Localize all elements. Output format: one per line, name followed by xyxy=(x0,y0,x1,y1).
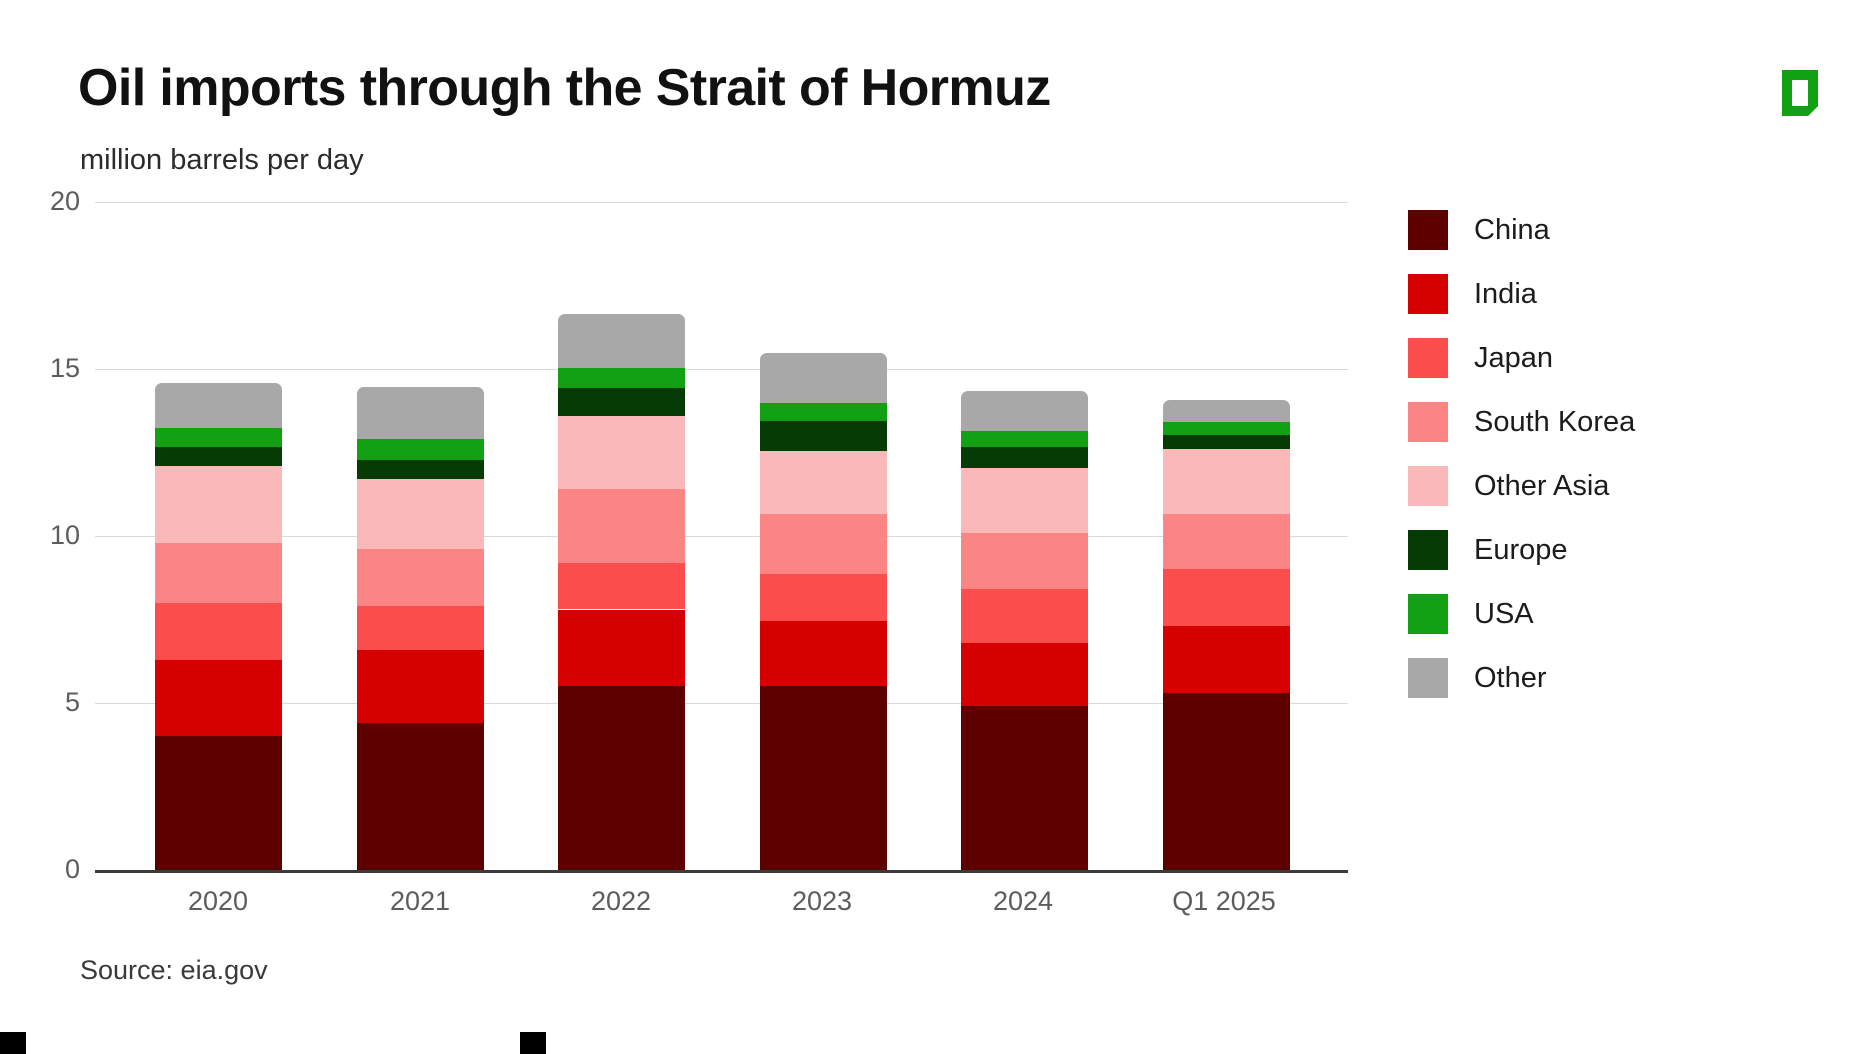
bar-segment-europe[interactable] xyxy=(155,447,282,466)
x-tick-2020: 2020 xyxy=(118,886,318,917)
bar-segment-usa[interactable] xyxy=(558,368,685,388)
gridline-20 xyxy=(95,202,1348,203)
bar-segment-japan[interactable] xyxy=(1163,569,1290,626)
gridline-15 xyxy=(95,369,1348,370)
gridline-5 xyxy=(95,703,1348,704)
legend-item-europe[interactable]: Europe xyxy=(1408,518,1828,582)
legend-item-india[interactable]: India xyxy=(1408,262,1828,326)
bar-2021[interactable] xyxy=(357,387,484,870)
x-tick-2022: 2022 xyxy=(521,886,721,917)
bar-q1-2025[interactable] xyxy=(1163,400,1290,870)
chart-legend: ChinaIndiaJapanSouth KoreaOther AsiaEuro… xyxy=(1408,198,1828,710)
legend-swatch-icon xyxy=(1408,402,1448,442)
footer-mark-right xyxy=(520,1032,546,1054)
bar-segment-japan[interactable] xyxy=(961,589,1088,642)
bar-segment-india[interactable] xyxy=(357,650,484,723)
legend-item-china[interactable]: China xyxy=(1408,198,1828,262)
legend-swatch-icon xyxy=(1408,594,1448,634)
bar-segment-other-asia[interactable] xyxy=(155,466,282,543)
x-tick-2021: 2021 xyxy=(320,886,520,917)
legend-item-japan[interactable]: Japan xyxy=(1408,326,1828,390)
legend-swatch-icon xyxy=(1408,274,1448,314)
legend-label: Europe xyxy=(1474,534,1568,567)
legend-item-usa[interactable]: USA xyxy=(1408,582,1828,646)
bar-segment-other[interactable] xyxy=(558,314,685,367)
bar-segment-south-korea[interactable] xyxy=(558,489,685,562)
source-note: Source: eia.gov xyxy=(80,955,268,986)
bar-segment-south-korea[interactable] xyxy=(357,549,484,606)
bar-segment-china[interactable] xyxy=(760,686,887,870)
bar-2022[interactable] xyxy=(558,314,685,870)
legend-item-south-korea[interactable]: South Korea xyxy=(1408,390,1828,454)
bar-segment-south-korea[interactable] xyxy=(760,514,887,574)
legend-item-other-asia[interactable]: Other Asia xyxy=(1408,454,1828,518)
bar-segment-europe[interactable] xyxy=(760,421,887,451)
bar-segment-south-korea[interactable] xyxy=(1163,514,1290,569)
chart-plot-area: 20 15 10 5 0 2020 2021 2022 2023 2024 Q1… xyxy=(0,0,1400,1054)
bar-segment-japan[interactable] xyxy=(558,563,685,610)
bar-segment-india[interactable] xyxy=(760,621,887,686)
legend-label: India xyxy=(1474,278,1537,311)
footer-mark-left xyxy=(0,1032,26,1054)
bar-segment-india[interactable] xyxy=(961,643,1088,706)
bar-segment-japan[interactable] xyxy=(357,606,484,649)
bar-segment-china[interactable] xyxy=(357,723,484,870)
bar-2024[interactable] xyxy=(961,391,1088,870)
bar-segment-usa[interactable] xyxy=(155,428,282,447)
bar-segment-europe[interactable] xyxy=(558,388,685,416)
y-tick-5: 5 xyxy=(10,687,80,718)
legend-swatch-icon xyxy=(1408,466,1448,506)
legend-label: China xyxy=(1474,214,1550,247)
gridline-10 xyxy=(95,536,1348,537)
legend-label: Other Asia xyxy=(1474,470,1609,503)
x-tick-2023: 2023 xyxy=(722,886,922,917)
y-tick-10: 10 xyxy=(10,520,80,551)
bar-segment-other[interactable] xyxy=(1163,400,1290,422)
bar-2020[interactable] xyxy=(155,383,282,870)
bar-segment-south-korea[interactable] xyxy=(155,543,282,603)
bar-segment-usa[interactable] xyxy=(357,439,484,460)
bar-segment-other[interactable] xyxy=(760,353,887,403)
legend-swatch-icon xyxy=(1408,338,1448,378)
y-tick-0: 0 xyxy=(10,854,80,885)
bar-segment-other-asia[interactable] xyxy=(760,451,887,514)
legend-label: USA xyxy=(1474,598,1534,631)
legend-label: South Korea xyxy=(1474,406,1635,439)
legend-swatch-icon xyxy=(1408,530,1448,570)
bar-segment-india[interactable] xyxy=(558,610,685,687)
bar-segment-south-korea[interactable] xyxy=(961,533,1088,590)
bar-segment-other[interactable] xyxy=(357,387,484,439)
bar-segment-china[interactable] xyxy=(1163,693,1290,870)
bar-segment-other[interactable] xyxy=(155,383,282,428)
bar-segment-japan[interactable] xyxy=(760,574,887,621)
green-square-logo xyxy=(1772,62,1828,118)
y-tick-20: 20 xyxy=(10,186,80,217)
x-tick-2024: 2024 xyxy=(923,886,1123,917)
bar-segment-usa[interactable] xyxy=(1163,422,1290,435)
bar-segment-europe[interactable] xyxy=(1163,435,1290,449)
legend-swatch-icon xyxy=(1408,210,1448,250)
y-tick-15: 15 xyxy=(10,353,80,384)
bar-2023[interactable] xyxy=(760,353,887,870)
footer-bar xyxy=(0,1032,1872,1054)
bar-segment-other[interactable] xyxy=(961,391,1088,431)
legend-label: Japan xyxy=(1474,342,1553,375)
bar-segment-europe[interactable] xyxy=(961,447,1088,468)
legend-label: Other xyxy=(1474,662,1547,695)
bar-segment-other-asia[interactable] xyxy=(1163,449,1290,514)
bar-segment-japan[interactable] xyxy=(155,603,282,660)
bar-segment-china[interactable] xyxy=(155,736,282,870)
bar-segment-china[interactable] xyxy=(961,706,1088,870)
bar-segment-other-asia[interactable] xyxy=(961,468,1088,533)
bar-segment-china[interactable] xyxy=(558,686,685,870)
x-tick-q1-2025: Q1 2025 xyxy=(1124,886,1324,917)
bar-segment-usa[interactable] xyxy=(961,431,1088,446)
bar-segment-india[interactable] xyxy=(1163,626,1290,693)
bar-segment-other-asia[interactable] xyxy=(558,416,685,489)
legend-item-other[interactable]: Other xyxy=(1408,646,1828,710)
bar-segment-india[interactable] xyxy=(155,660,282,737)
x-axis-line xyxy=(95,870,1348,873)
legend-swatch-icon xyxy=(1408,658,1448,698)
bar-segment-europe[interactable] xyxy=(357,460,484,479)
bar-segment-usa[interactable] xyxy=(760,403,887,421)
bar-segment-other-asia[interactable] xyxy=(357,479,484,549)
